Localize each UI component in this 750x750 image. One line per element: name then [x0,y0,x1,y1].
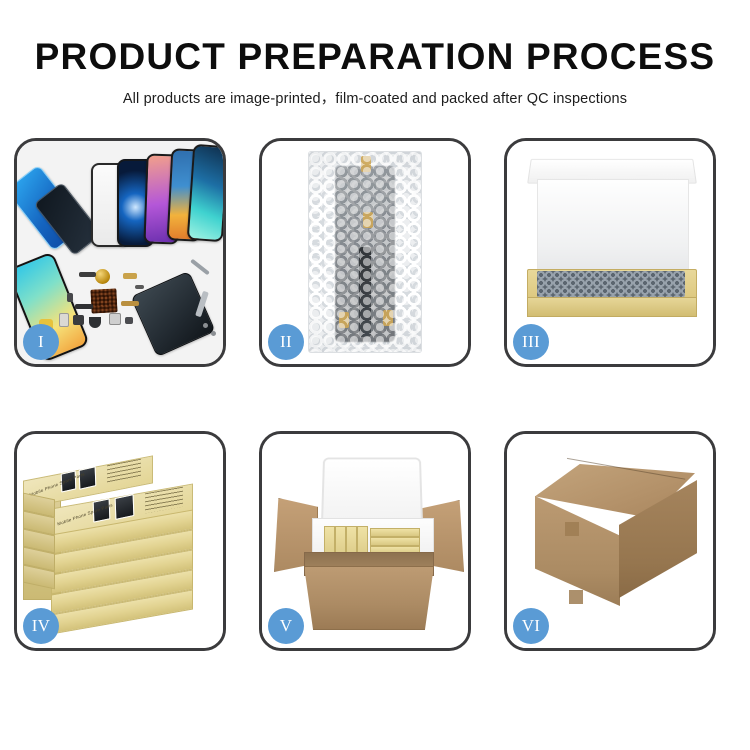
small-part [135,285,144,289]
screw [211,331,216,336]
step-badge-4: IV [23,608,59,644]
small-part [89,317,101,328]
step-badge-3: III [513,324,549,360]
box-lid-face [537,179,689,275]
process-step-1: I [14,138,226,367]
chip-array-part [90,288,117,313]
phone-screen-teal [187,144,223,242]
small-part [67,293,73,302]
small-part [59,313,69,327]
flex-cable [359,247,371,337]
page-title: PRODUCT PREPARATION PROCESS [0,38,750,77]
small-part [73,315,84,325]
process-step-grid: I II [14,138,736,651]
step-badge-5: V [268,608,304,644]
yellow-box-item [370,528,420,537]
process-step-5: V [259,431,471,651]
bubble-wrap-bag [308,151,422,353]
process-step-6: VI [504,431,716,651]
screw [203,323,208,328]
step-badge-2: II [268,324,304,360]
carton-front-panel [304,566,434,630]
small-part [125,317,133,324]
small-part [123,273,137,279]
step-badge-1: I [23,324,59,360]
bubble-wrapped-contents [537,271,685,297]
page-subtitle: All products are image-printed，film-coat… [0,87,750,108]
foam-box-lid [321,457,423,526]
header: PRODUCT PREPARATION PROCESS All products… [0,0,750,108]
small-part [75,304,93,309]
tape-piece [383,310,393,326]
process-step-3: III [504,138,716,367]
yellow-box-item [370,537,420,546]
box-label-window [79,466,97,490]
box-label-window [115,494,135,520]
carton-tape-upper [565,522,579,536]
process-step-4: Mobile Phone Spare Parts Mobile Phone Sp… [14,431,226,651]
kraft-box-front [527,297,697,317]
tape-piece [339,312,349,328]
tape-piece [363,212,373,228]
carton-tape-lower [569,590,583,604]
gold-coin-part [95,269,110,284]
small-part [109,313,121,325]
process-step-2: II [259,138,471,367]
product-preparation-infographic: PRODUCT PREPARATION PROCESS All products… [0,0,750,750]
small-part [79,272,96,277]
phone-back-housing [130,271,215,357]
screwdriver-tool [190,259,210,276]
tape-piece [361,156,371,172]
step-badge-6: VI [513,608,549,644]
small-part [121,301,139,306]
